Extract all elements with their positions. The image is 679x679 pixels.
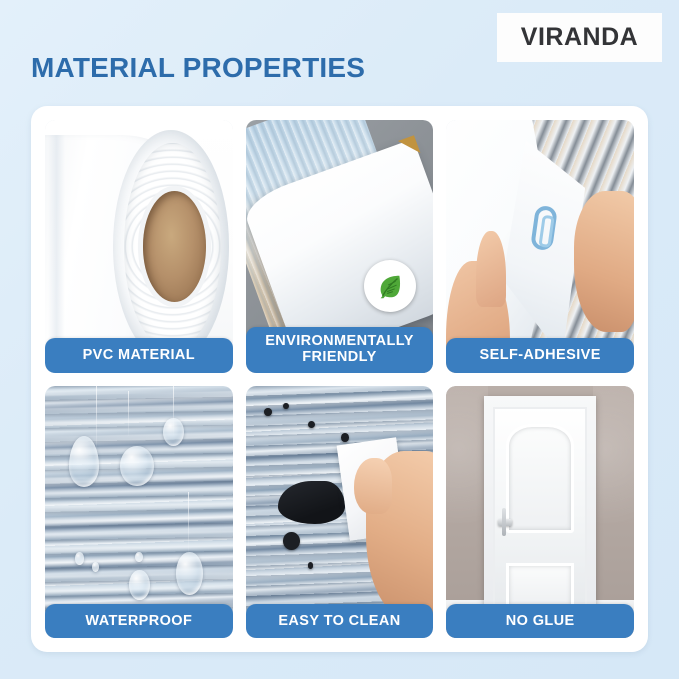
feature-label-line1: ENVIRONMENTALLY <box>265 333 414 349</box>
feature-label-no-glue: NO GLUE <box>446 604 634 638</box>
no-glue-image <box>446 386 634 639</box>
leaf-icon <box>364 260 416 312</box>
roll-core <box>143 191 207 302</box>
feature-label-pvc-material: PVC MATERIAL <box>45 338 233 372</box>
feature-card-easy-to-clean[interactable]: EASY TO CLEAN <box>246 386 434 639</box>
stain-mark <box>278 481 346 524</box>
door <box>493 407 588 618</box>
feature-label-waterproof: WATERPROOF <box>45 604 233 638</box>
features-panel: PVC MATERIAL ENVIRONMENTALLY FRIENDLY <box>31 106 648 652</box>
right-hand <box>574 191 634 332</box>
feature-card-no-glue[interactable]: NO GLUE <box>446 386 634 639</box>
door-frame <box>484 396 597 618</box>
feature-card-pvc-material[interactable]: PVC MATERIAL <box>45 120 233 373</box>
feature-card-environmentally-friendly[interactable]: ENVIRONMENTALLY FRIENDLY <box>246 120 434 373</box>
door-handle-icon <box>498 519 512 526</box>
page-title: MATERIAL PROPERTIES <box>31 52 365 84</box>
self-adhesive-image <box>446 120 634 373</box>
feature-label-line2: FRIENDLY <box>302 349 376 365</box>
feature-label-environmentally-friendly: ENVIRONMENTALLY FRIENDLY <box>246 327 434 372</box>
feature-card-self-adhesive[interactable]: SELF-ADHESIVE <box>446 120 634 373</box>
brand-logo-text: VIRANDA <box>521 23 638 52</box>
pvc-material-image <box>45 120 233 373</box>
features-grid: PVC MATERIAL ENVIRONMENTALLY FRIENDLY <box>45 120 634 638</box>
waterproof-image <box>45 386 233 639</box>
brand-logo-box: VIRANDA <box>497 13 662 62</box>
feature-label-easy-to-clean: EASY TO CLEAN <box>246 604 434 638</box>
feature-card-waterproof[interactable]: WATERPROOF <box>45 386 233 639</box>
feature-label-self-adhesive: SELF-ADHESIVE <box>446 338 634 372</box>
easy-to-clean-image <box>246 386 434 639</box>
